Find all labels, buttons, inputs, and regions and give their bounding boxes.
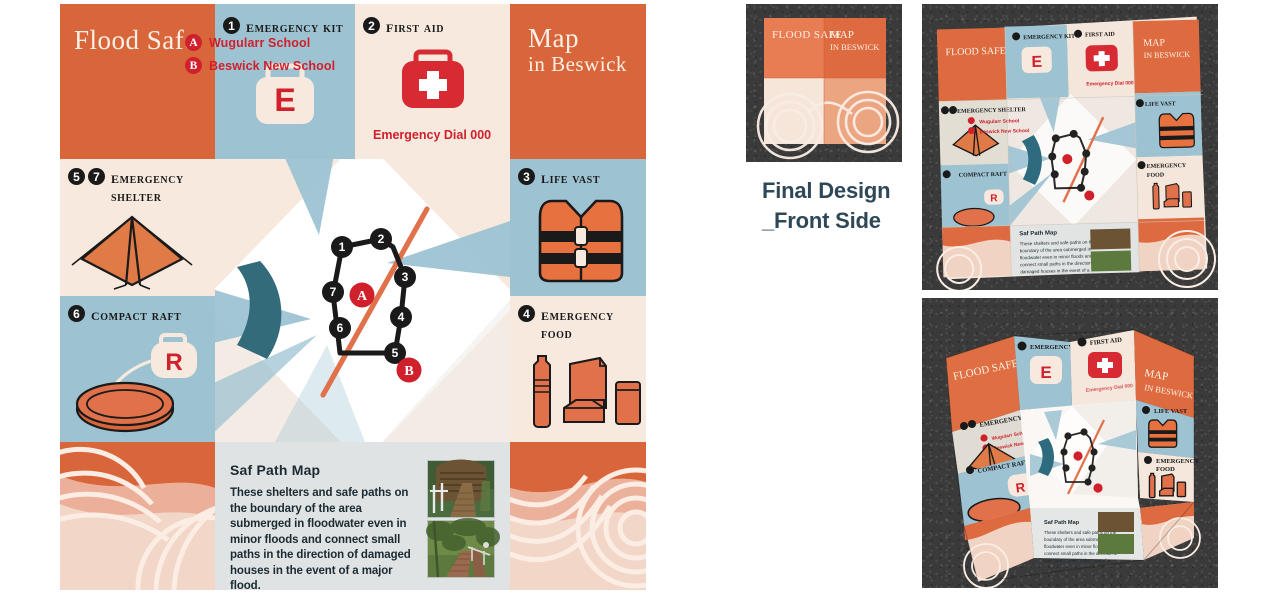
shelter-badge-b: B [185, 57, 202, 74]
svg-text:3: 3 [402, 270, 409, 284]
svg-text:E: E [274, 82, 295, 118]
svg-text:R: R [990, 193, 998, 204]
svg-text:LIFE VAST: LIFE VAST [1145, 101, 1176, 108]
panel-map-title: Map in Beswick [510, 4, 646, 159]
item-label-shelter: Emergency Shelter [111, 168, 215, 206]
number-badge-1: 1 [223, 17, 240, 34]
svg-text:Saf Path Map: Saf Path Map [1044, 520, 1080, 526]
page-root: Flood Safe 1 Emergency Kit E 2 First Aid [0, 0, 1280, 594]
item-heading-3: 3 Life Vast [518, 168, 600, 189]
number-badge-4: 4 [518, 305, 535, 322]
svg-text:B: B [404, 364, 413, 379]
emergency-food-icon [518, 346, 646, 436]
shelter-row: A Wugularr School [185, 34, 335, 51]
panel-life-vest: 3 Life Vast [510, 159, 646, 296]
svg-text:Saf Path Map: Saf Path Map [1019, 230, 1057, 237]
item-label-3: Life Vast [541, 168, 600, 189]
map-diagram-svg: 1 2 3 4 5 6 7 A B [215, 159, 510, 442]
panel-compact-raft: 6 Compact Raft R [60, 296, 215, 442]
svg-text:EMERGENCY: EMERGENCY [1146, 163, 1186, 170]
svg-text:FOOD: FOOD [1147, 173, 1165, 179]
panel-wave-left [60, 442, 215, 590]
item-label-4: Emergency Food [541, 305, 638, 343]
panel-emergency-shelter: 5 7 Emergency Shelter [60, 159, 215, 296]
svg-text:2: 2 [378, 232, 385, 246]
svg-text:7: 7 [330, 285, 337, 299]
folded-brochure-photo: FLOOD SAFE MAP IN BESWICK [746, 4, 902, 162]
item-label-6: Compact Raft [91, 305, 181, 326]
item-label-2: First Aid [386, 17, 444, 38]
ripple-pattern-left [60, 442, 215, 590]
item-heading-2: 2 First Aid [363, 17, 444, 38]
number-badge-2: 2 [363, 17, 380, 34]
svg-text:MAP: MAP [1143, 37, 1165, 49]
number-badge-5: 5 [68, 168, 85, 185]
svg-text:Wugularr School: Wugularr School [979, 118, 1020, 125]
map-title: Map in Beswick [528, 24, 627, 75]
svg-text:IN BESWICK: IN BESWICK [830, 42, 880, 52]
shelter-row: B Beswick New School [185, 57, 335, 74]
panel-brand: Flood Safe [60, 4, 215, 159]
svg-text:4: 4 [398, 310, 405, 324]
compact-raft-icon: R [63, 329, 213, 439]
svg-text:COMPACT RAFT: COMPACT RAFT [959, 172, 1007, 179]
first-aid-kit-icon [355, 40, 510, 120]
panel-wave-right [510, 442, 646, 590]
panel-safe-path-text: Saf Path Map These shelters and safe pat… [215, 442, 510, 590]
svg-text:FLOOD SAFE: FLOOD SAFE [945, 46, 1006, 59]
shelter-name-list: A Wugularr School B Beswick New School [185, 34, 335, 80]
svg-text:1: 1 [339, 240, 346, 254]
svg-text:R: R [165, 349, 182, 376]
number-badge-7: 7 [88, 168, 105, 185]
number-badge-6: 6 [68, 305, 85, 322]
safe-path-body: These shelters and safe paths on the bou… [230, 486, 412, 590]
svg-text:E: E [1031, 54, 1042, 71]
safe-path-title: Saf Path Map [230, 462, 320, 478]
shelter-name-b: Beswick New School [209, 59, 335, 73]
svg-text:E: E [1040, 363, 1051, 382]
boardwalk-tunnel-photo [427, 460, 495, 518]
svg-text:5: 5 [392, 346, 399, 360]
number-badge-3: 3 [518, 168, 535, 185]
shelter-name-a: Wugularr School [209, 36, 310, 50]
panel-emergency-food: 4 Emergency Food [510, 296, 646, 442]
life-vest-icon [526, 195, 636, 287]
svg-text:LIFE VAST: LIFE VAST [1154, 408, 1188, 415]
brochure-artwork: Flood Safe 1 Emergency Kit E 2 First Aid [60, 4, 646, 590]
tent-icon [70, 211, 195, 289]
ripple-pattern-right [510, 442, 646, 590]
svg-text:EMERGENCY: EMERGENCY [1156, 458, 1199, 465]
svg-text:A: A [357, 289, 368, 304]
svg-text:6: 6 [337, 321, 344, 335]
unfolded-flat-brochure-photo: FLOOD SAFE MAP IN BESWICK EMERGENCY KIT … [922, 4, 1218, 290]
svg-text:FOOD: FOOD [1156, 466, 1175, 473]
boardwalk-forest-photo [427, 520, 495, 578]
item-heading-57: 5 7 Emergency Shelter [68, 168, 215, 206]
panel-first-aid: 2 First Aid Emergency Dial 000 [355, 4, 510, 159]
svg-text:Emergency Dial 000: Emergency Dial 000 [1086, 80, 1134, 87]
map-diagram: 1 2 3 4 5 6 7 A B [215, 159, 510, 442]
item-heading-4: 4 Emergency Food [518, 305, 638, 343]
unfolded-3d-brochure-photo: FLOOD SAFE E EMERGENCY KIT FIRST AID Eme… [922, 298, 1218, 588]
panel-emergency-kit: 1 Emergency Kit E [215, 4, 355, 159]
svg-text:IN BESWICK: IN BESWICK [1144, 50, 1191, 60]
shelter-badge-a: A [185, 34, 202, 51]
item-heading-6: 6 Compact Raft [68, 305, 181, 326]
emergency-dial-note: Emergency Dial 000 [373, 128, 491, 142]
svg-text:damaged houses in the event of: damaged houses in the event of a [1044, 558, 1111, 563]
svg-text:MAP: MAP [830, 29, 854, 41]
svg-text:FIRST AID: FIRST AID [1085, 32, 1116, 39]
brand-title: Flood Safe [74, 26, 197, 55]
